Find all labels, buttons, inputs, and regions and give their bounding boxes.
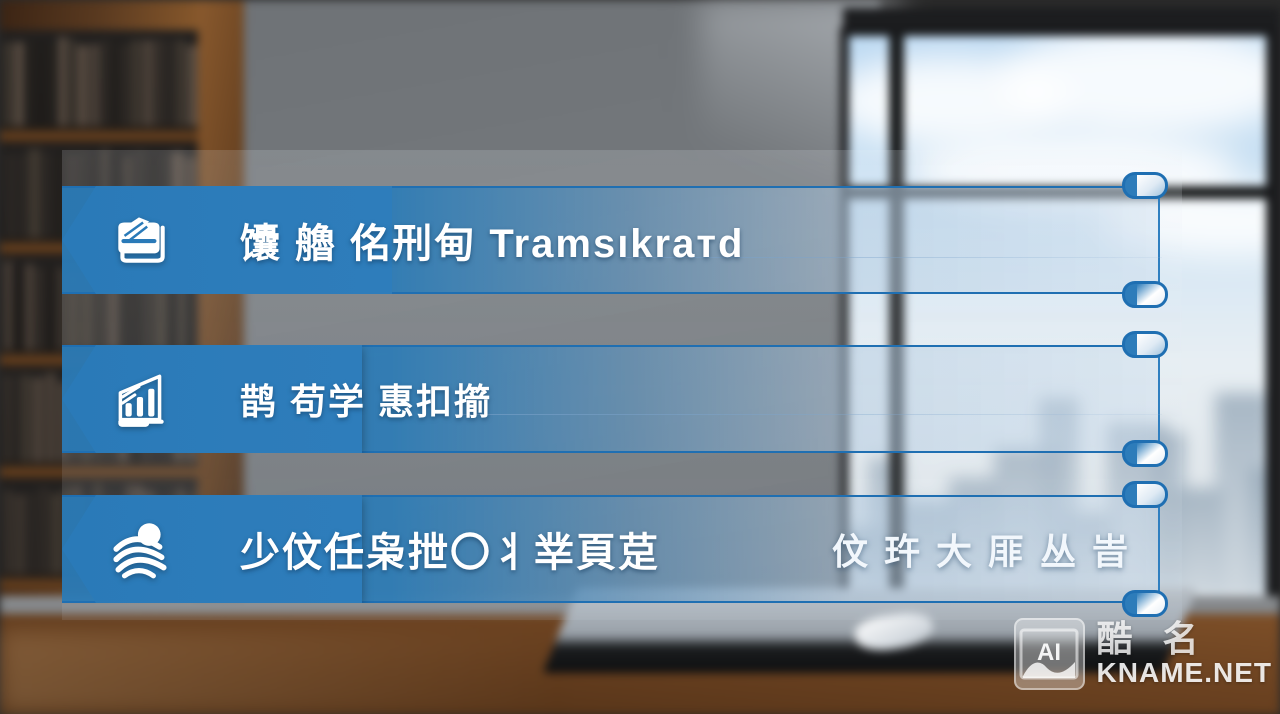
row-pill-bottom[interactable] [1122,281,1168,308]
watermark-brand-cn: 酷 名 [1097,620,1272,658]
watermark-brand-en: KNAME.NET [1097,658,1272,689]
book-stack-icon [108,207,174,273]
row-pill-top[interactable] [1122,481,1168,508]
row-label: 鹊 苟学 惠扣擶 [240,373,492,425]
bar-chart-building-icon [108,366,174,432]
mountain-waves-icon [108,516,174,582]
ai-image-icon: AI [1014,618,1085,690]
watermark-text: 酷 名 KNAME.NET [1097,620,1272,689]
watermark: AI 酷 名 KNAME.NET [1014,606,1272,702]
row-label: 馕 艪 佲刑甸 Tramsıkraтd [240,211,744,269]
row-sublabel: 伩 玝 大 厞 丛 旹 [832,523,1131,575]
row-pill-top[interactable] [1122,331,1168,358]
row-pill-top[interactable] [1122,172,1168,199]
row-hairline [462,414,1162,415]
banner-row[interactable]: 馕 艪 佲刑甸 Tramsıkraтd [62,186,1160,294]
row-label: 少伩任枭抴〇丬丵頁莡 [240,520,660,578]
row-pill-bottom[interactable] [1122,440,1168,467]
svg-text:AI: AI [1037,639,1061,666]
banner-row[interactable]: 鹊 苟学 惠扣擶 [62,345,1160,453]
banner-row[interactable]: 少伩任枭抴〇丬丵頁莡 伩 玝 大 厞 丛 旹 [62,495,1160,603]
scene-root: 馕 艪 佲刑甸 Tramsıkraтd [0,0,1280,714]
